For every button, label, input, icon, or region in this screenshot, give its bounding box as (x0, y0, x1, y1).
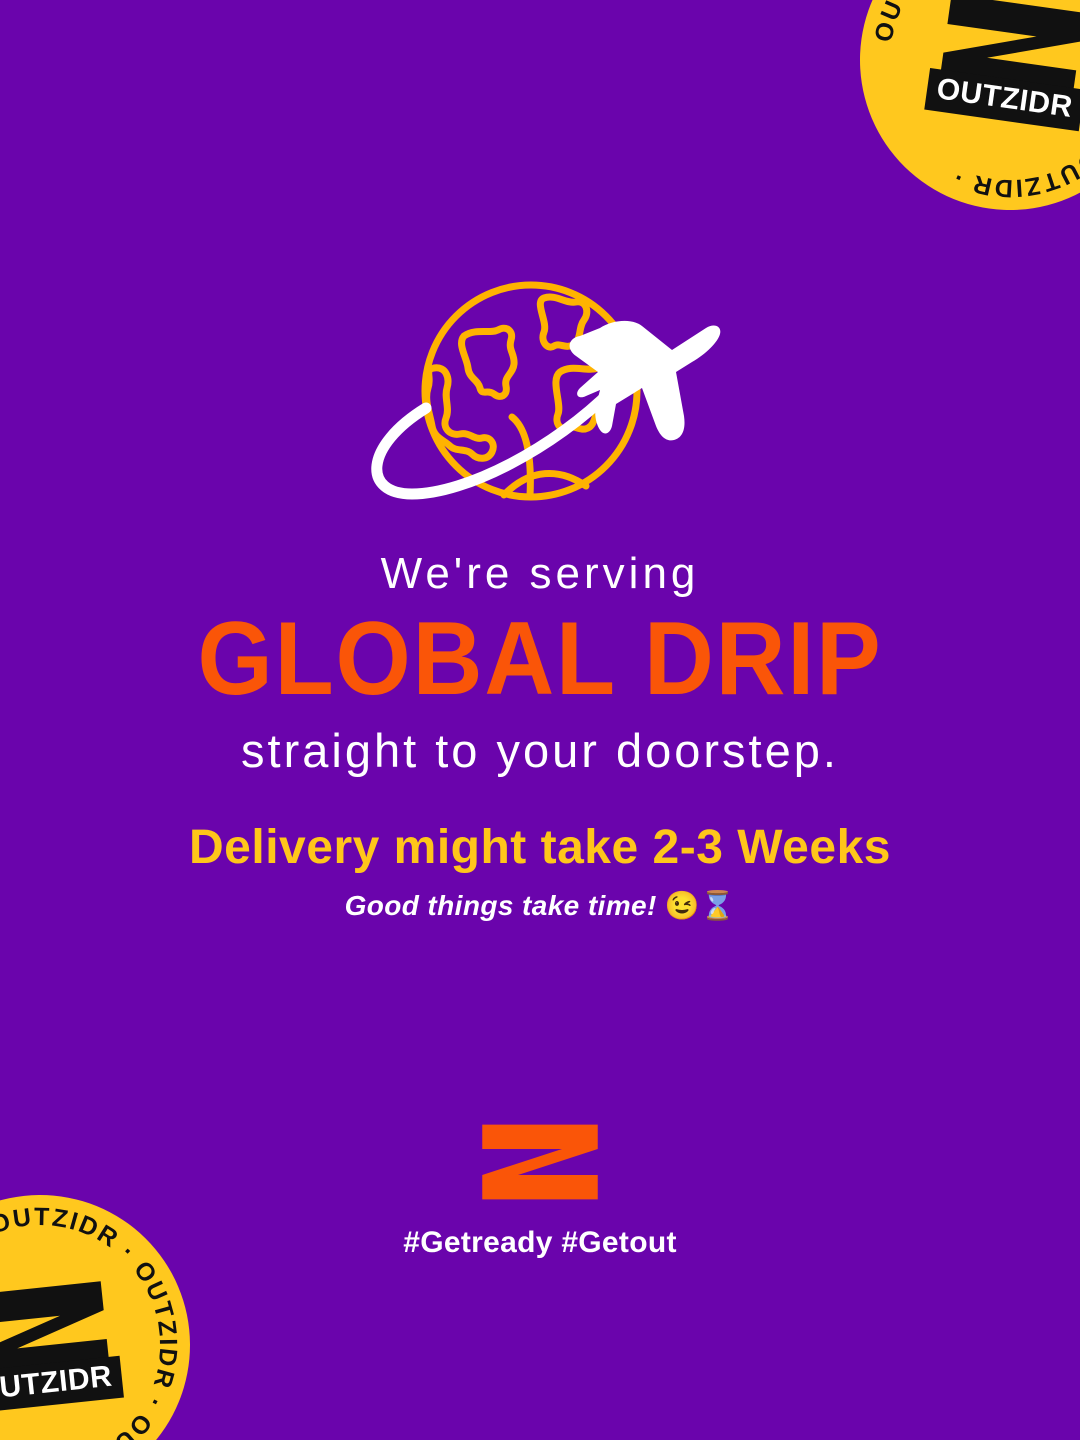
badge-core: OUTZIDR (0, 1275, 135, 1415)
hashtags-text: #Getready #Getout (0, 1226, 1080, 1260)
z-logo-icon (479, 1118, 601, 1206)
delivery-subnote-text: Good things take time! (345, 890, 657, 921)
continent-north (462, 328, 515, 396)
delivery-time-text: Delivery might take 2-3 Weeks (0, 820, 1080, 875)
delivery-subnote: Good things take time! 😉⌛ (0, 889, 1080, 922)
tagline-suffix: straight to your doorstep. (0, 723, 1080, 779)
globe-airplane-illustration (0, 268, 1080, 516)
headline-block: We're serving GLOBAL DRIP straight to yo… (0, 548, 1080, 779)
delivery-notice-block: Delivery might take 2-3 Weeks Good thing… (0, 820, 1080, 922)
footer-block: #Getready #Getout (0, 1118, 1080, 1260)
wink-hourglass-emoji: 😉⌛ (665, 890, 736, 921)
tagline-prefix: We're serving (0, 548, 1080, 601)
page-title: GLOBAL DRIP (38, 609, 1042, 711)
brand-badge-top-right: OUTZIDR · OUTZIDR · OUTZIDR · OUTZIDR · … (841, 0, 1080, 229)
promo-poster: OUTZIDR · OUTZIDR · OUTZIDR · OUTZIDR · … (0, 0, 1080, 1440)
globe-with-airplane-icon (354, 268, 726, 516)
